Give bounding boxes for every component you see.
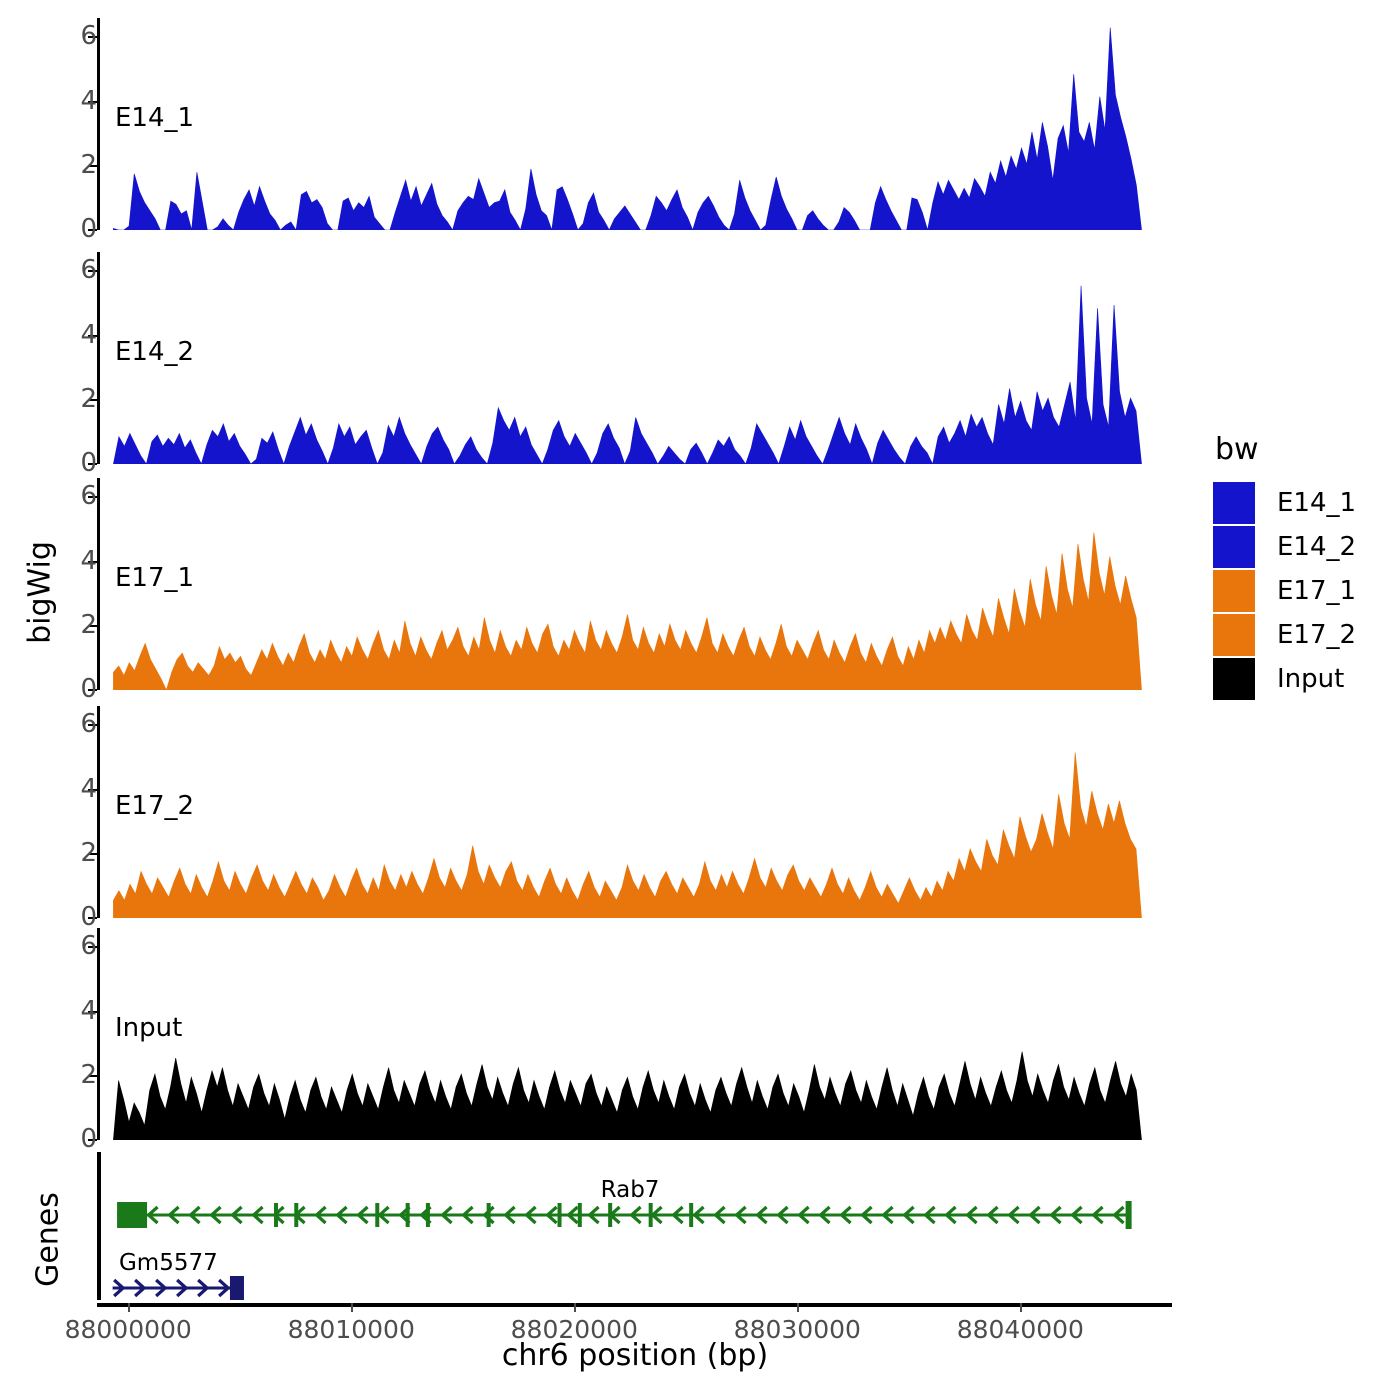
- y-tick-label: 2: [57, 386, 97, 412]
- y-tick-label: 0: [57, 1126, 97, 1152]
- y-axis-title-bigwig: bigWig: [23, 513, 58, 673]
- y-tick-label: 4: [57, 88, 97, 114]
- y-tick-label: 6: [57, 483, 97, 509]
- y-tick-label: 0: [57, 216, 97, 242]
- track-panel-input: 0246Input: [97, 928, 1176, 1140]
- legend-swatch-input: [1213, 658, 1255, 700]
- legend-swatch-e17_1: [1213, 570, 1255, 612]
- track-panel-e17_1: 0246E17_1: [97, 478, 1176, 690]
- legend-item-e14_2[interactable]: E14_2: [1213, 525, 1393, 569]
- legend-label-e17_2: E17_2: [1277, 620, 1356, 650]
- y-tick-label: 4: [57, 322, 97, 348]
- track-area-e14_1: [100, 18, 1181, 230]
- legend-items: E14_1E14_2E17_1E17_2Input: [1213, 481, 1393, 701]
- y-tick-label: 6: [57, 23, 97, 49]
- track-panel-e17_2: 0246E17_2: [97, 706, 1176, 918]
- track-panel-e14_1: 0246E14_1: [97, 18, 1176, 230]
- y-tick-label: 0: [57, 904, 97, 930]
- x-axis-line: [97, 1303, 1172, 1307]
- legend-swatch-e14_2: [1213, 526, 1255, 568]
- legend-swatch-e17_2: [1213, 614, 1255, 656]
- legend-label-input: Input: [1277, 664, 1344, 694]
- genes-panel: Rab7Gm5577: [97, 1152, 1177, 1300]
- x-axis-title: chr6 position (bp): [100, 1338, 1170, 1373]
- x-tick: [351, 1303, 353, 1312]
- x-tick: [797, 1303, 799, 1312]
- y-tick-label: 0: [57, 450, 97, 476]
- y-tick-label: 2: [57, 1062, 97, 1088]
- legend-label-e14_2: E14_2: [1277, 532, 1356, 562]
- legend-label-e17_1: E17_1: [1277, 576, 1356, 606]
- legend-swatch-e14_1: [1213, 482, 1255, 524]
- y-tick-label: 2: [57, 152, 97, 178]
- x-tick: [1020, 1303, 1022, 1312]
- y-tick-label: 6: [57, 933, 97, 959]
- legend-label-e14_1: E14_1: [1277, 488, 1356, 518]
- track-area-e17_2: [100, 706, 1181, 918]
- y-tick-label: 6: [57, 711, 97, 737]
- y-tick-label: 0: [57, 676, 97, 702]
- legend-title: bw: [1215, 432, 1393, 467]
- y-tick-label: 4: [57, 998, 97, 1024]
- x-tick: [574, 1303, 576, 1312]
- track-area-e17_1: [100, 478, 1181, 690]
- legend-item-e17_2[interactable]: E17_2: [1213, 613, 1393, 657]
- x-tick: [128, 1303, 130, 1312]
- genome-browser-figure: bigWig Genes 0246E14_10246E14_20246E17_1…: [0, 0, 1400, 1400]
- gene-rab7[interactable]: Rab7: [97, 1181, 1177, 1233]
- track-panel-e14_2: 0246E14_2: [97, 252, 1176, 464]
- y-tick-label: 2: [57, 840, 97, 866]
- legend-item-e14_1[interactable]: E14_1: [1213, 481, 1393, 525]
- y-axis-title-genes: Genes: [31, 1170, 66, 1310]
- gene-gm5577[interactable]: Gm5577: [97, 1254, 1177, 1306]
- track-area-input: [100, 928, 1181, 1140]
- y-tick-label: 4: [57, 548, 97, 574]
- legend: bw E14_1E14_2E17_1E17_2Input: [1213, 432, 1393, 701]
- y-tick-label: 6: [57, 257, 97, 283]
- legend-item-input[interactable]: Input: [1213, 657, 1393, 701]
- y-tick-label: 4: [57, 776, 97, 802]
- legend-item-e17_1[interactable]: E17_1: [1213, 569, 1393, 613]
- y-tick-label: 2: [57, 612, 97, 638]
- track-area-e14_2: [100, 252, 1181, 464]
